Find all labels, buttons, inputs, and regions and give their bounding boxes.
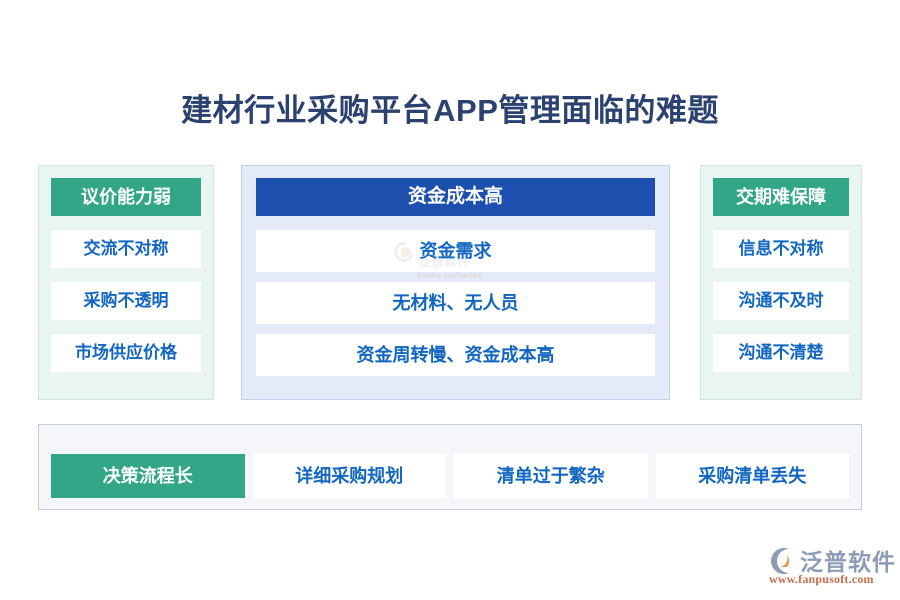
watermark-dot-icon xyxy=(401,247,411,257)
brand-logo: 泛普软件 www.fanpusoft.com xyxy=(768,542,888,590)
bottom-row: 决策流程长 详细采购规划 清单过于繁杂 采购清单丢失 xyxy=(51,454,849,498)
panel-item[interactable]: 无材料、无人员 xyxy=(256,282,655,324)
panel-item[interactable]: 交流不对称 xyxy=(51,230,201,268)
bottom-item[interactable]: 清单过于繁杂 xyxy=(454,454,648,498)
panel-item[interactable]: 市场供应价格 xyxy=(51,334,201,372)
panel-header-delivery-guarantee: 交期难保障 xyxy=(713,178,849,216)
columns-region: 议价能力弱 交流不对称 采购不透明 市场供应价格 资金成本高 泛普软件 FANP… xyxy=(38,165,862,400)
bottom-lead-label: 决策流程长 xyxy=(51,454,245,498)
panel-header-bargaining-power: 议价能力弱 xyxy=(51,178,201,216)
panel-item-label: 资金需求 xyxy=(420,241,492,261)
panel-capital-cost: 资金成本高 泛普软件 FANPU SOFTWARE 资金需求 无材料、无人员 资… xyxy=(241,165,670,400)
panel-item[interactable]: 沟通不及时 xyxy=(713,282,849,320)
bottom-item[interactable]: 采购清单丢失 xyxy=(656,454,850,498)
panel-item[interactable]: 泛普软件 FANPU SOFTWARE 资金需求 xyxy=(256,230,655,272)
panel-delivery-guarantee: 交期难保障 信息不对称 沟通不及时 沟通不清楚 xyxy=(700,165,862,400)
watermark-arc-icon xyxy=(390,238,418,266)
panel-header-capital-cost: 资金成本高 xyxy=(256,178,655,216)
page-title: 建材行业采购平台APP管理面临的难题 xyxy=(0,90,900,132)
panel-bargaining-power: 议价能力弱 交流不对称 采购不透明 市场供应价格 xyxy=(38,165,214,400)
panel-item[interactable]: 资金周转慢、资金成本高 xyxy=(256,334,655,376)
panel-item[interactable]: 采购不透明 xyxy=(51,282,201,320)
bottom-item[interactable]: 详细采购规划 xyxy=(253,454,447,498)
brand-url: www.fanpusoft.com xyxy=(769,572,874,587)
bottom-panel-decision-process: 决策流程长 详细采购规划 清单过于繁杂 采购清单丢失 xyxy=(38,424,862,510)
panel-item[interactable]: 沟通不清楚 xyxy=(713,334,849,372)
panel-item[interactable]: 信息不对称 xyxy=(713,230,849,268)
